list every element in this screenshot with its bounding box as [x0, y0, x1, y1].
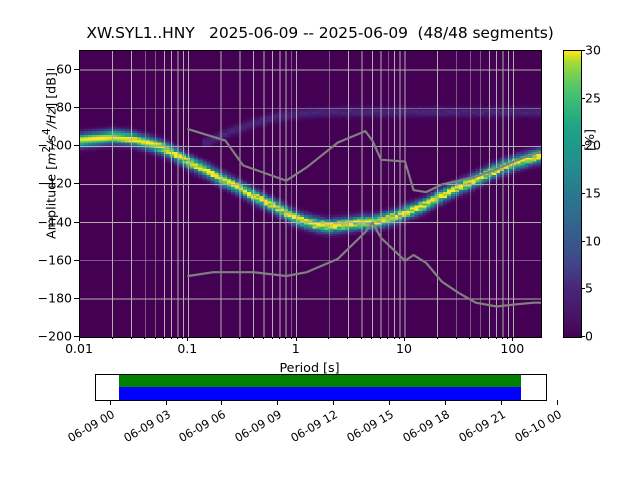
y-tick-mark: [74, 107, 79, 108]
x-tick-mark-minor: [163, 337, 164, 339]
x-tick-mark-minor: [171, 337, 172, 339]
x-tick-label: 10: [396, 341, 412, 356]
ppsd-figure: XW.SYL1..HNY 2025-06-09 -- 2025-06-09 (4…: [0, 0, 640, 480]
colorbar-tick-label: 15: [585, 186, 601, 201]
timeline-tick-label: 06-09 06: [166, 407, 228, 451]
timeline-tick-label: 06-09 21: [445, 407, 507, 451]
x-tick-mark-minor: [263, 337, 264, 339]
x-tick-mark-minor: [291, 337, 292, 339]
colorbar-tick-mark: [581, 193, 585, 194]
ppsd-density-canvas: [80, 51, 541, 337]
timeline-tick-mark: [277, 400, 278, 405]
colorbar-tick-label: 30: [585, 43, 601, 58]
timeline-tick-label: 06-09 09: [222, 407, 284, 451]
y-axis-ticks: −60−80−100−120−140−160−180−200: [0, 50, 72, 336]
timeline-tick-label: 06-09 18: [389, 407, 451, 451]
x-tick-mark-minor: [399, 337, 400, 339]
y-tick-mark: [74, 145, 79, 146]
timeline-tick-mark: [389, 400, 390, 405]
colorbar-tick-label: 0: [585, 329, 593, 344]
colorbar-tick-mark: [581, 288, 585, 289]
x-tick-label: 0.1: [177, 341, 197, 356]
x-tick-label: 0.01: [65, 341, 93, 356]
x-tick-mark-minor: [285, 337, 286, 339]
x-axis-title: Period [s]: [79, 360, 540, 375]
timeline-tick-mark: [333, 400, 334, 405]
y-tick-label: −140: [0, 214, 72, 229]
timeline-segments-bar: [119, 387, 521, 400]
timeline-tick-mark: [445, 400, 446, 405]
y-tick-mark: [74, 260, 79, 261]
colorbar-tick-mark: [581, 98, 585, 99]
timeline-tick-label: 06-09 12: [278, 407, 340, 451]
colorbar-tick-label: 10: [585, 233, 601, 248]
colorbar-tick-mark: [581, 241, 585, 242]
y-tick-label: −160: [0, 252, 72, 267]
y-tick-label: −60: [0, 62, 72, 77]
density-cells: [80, 104, 541, 237]
timeline-tick-mark: [166, 400, 167, 405]
x-tick-mark-minor: [456, 337, 457, 339]
y-tick-label: −100: [0, 138, 72, 153]
timeline-tick-label: 06-10 00: [501, 407, 563, 451]
x-tick-mark-minor: [220, 337, 221, 339]
x-tick-mark-minor: [469, 337, 470, 339]
y-tick-mark: [74, 69, 79, 70]
x-tick-mark-minor: [437, 337, 438, 339]
timeline-tick-label: 06-09 00: [54, 407, 116, 451]
y-tick-label: −180: [0, 290, 72, 305]
y-tick-label: −200: [0, 329, 72, 344]
x-tick-mark-minor: [394, 337, 395, 339]
colorbar-tick-mark: [581, 336, 585, 337]
nlnm-curve: [188, 223, 541, 307]
x-tick-mark-minor: [361, 337, 362, 339]
x-tick-label: 100: [500, 341, 524, 356]
x-tick-mark-minor: [279, 337, 280, 339]
x-tick-mark-minor: [328, 337, 329, 339]
x-tick-mark-minor: [155, 337, 156, 339]
colorbar-title: [%]: [582, 100, 597, 180]
x-tick-label: 1: [292, 341, 300, 356]
x-tick-mark-minor: [272, 337, 273, 339]
y-tick-mark: [74, 183, 79, 184]
timeline-coverage-axes[interactable]: [95, 374, 547, 401]
x-tick-mark-minor: [182, 337, 183, 339]
y-tick-label: −80: [0, 100, 72, 115]
x-tick-mark-minor: [507, 337, 508, 339]
timeline-tick-mark: [110, 400, 111, 405]
x-tick-mark-minor: [112, 337, 113, 339]
x-tick-mark-minor: [480, 337, 481, 339]
timeline-tick-mark: [501, 400, 502, 405]
y-tick-mark: [74, 298, 79, 299]
x-tick-mark-minor: [502, 337, 503, 339]
x-tick-mark-minor: [387, 337, 388, 339]
timeline-tick-label: 06-09 03: [110, 407, 172, 451]
page-title: XW.SYL1..HNY 2025-06-09 -- 2025-06-09 (4…: [0, 24, 640, 42]
colorbar-tick-label: 5: [585, 281, 593, 296]
x-tick-mark-minor: [239, 337, 240, 339]
x-tick-mark-minor: [347, 337, 348, 339]
colorbar-tick-mark: [581, 50, 585, 51]
y-tick-mark: [74, 336, 79, 337]
x-tick-mark-minor: [253, 337, 254, 339]
ppsd-plot-area[interactable]: [79, 50, 542, 338]
timeline-coverage-bar: [119, 375, 521, 387]
x-tick-mark-minor: [131, 337, 132, 339]
timeline-tick-mark: [221, 400, 222, 405]
timeline-tick-label: 06-09 15: [334, 407, 396, 451]
x-tick-mark-minor: [371, 337, 372, 339]
colorbar: [563, 50, 582, 338]
timeline-tick-mark: [557, 400, 558, 405]
x-tick-mark-minor: [488, 337, 489, 339]
x-tick-mark-minor: [144, 337, 145, 339]
y-tick-mark: [74, 222, 79, 223]
x-tick-mark-minor: [496, 337, 497, 339]
y-tick-label: −120: [0, 176, 72, 191]
x-tick-mark-minor: [177, 337, 178, 339]
x-tick-mark-minor: [380, 337, 381, 339]
